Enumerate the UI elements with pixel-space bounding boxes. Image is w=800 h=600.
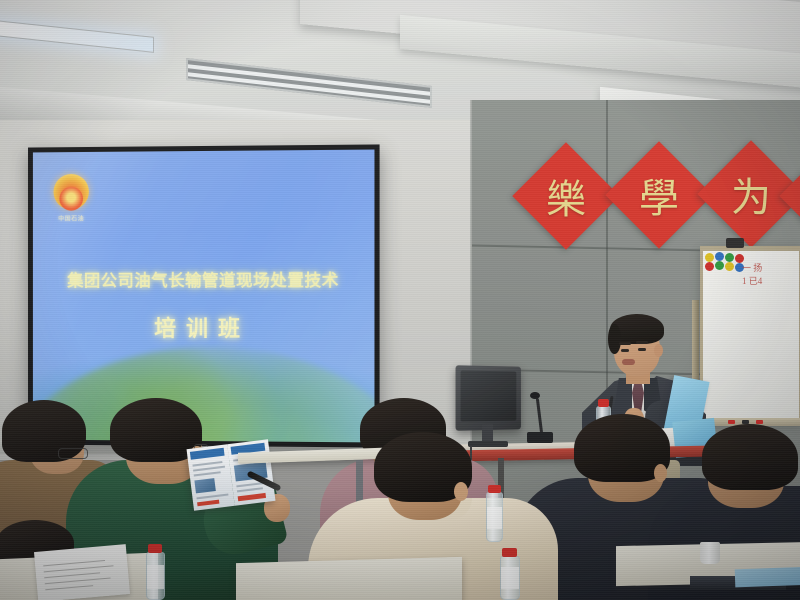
bottle-label-front-center xyxy=(501,567,519,589)
logo-sun-core xyxy=(59,187,83,211)
booklet-accent-right xyxy=(238,493,266,501)
water-bottle-cap-front-left xyxy=(148,544,162,553)
whiteboard-magnet-2 xyxy=(715,252,724,261)
booklet-accent-left xyxy=(197,500,219,507)
desk-documents-front-right xyxy=(735,567,800,588)
whiteboard-magnet-3 xyxy=(725,253,734,262)
bottle-label-front-left xyxy=(147,565,164,589)
presenter-brow-right xyxy=(636,341,648,344)
water-bottle-front-left xyxy=(146,552,165,600)
wall-banner-1: 樂 xyxy=(512,142,619,249)
whiteboard-handwriting: 一 扬 1 已4 xyxy=(742,262,800,302)
petrochina-logo: 中国石油 xyxy=(49,174,94,230)
presenter-ear xyxy=(654,344,663,357)
desk-front-center xyxy=(236,557,462,600)
slide-title: 集团公司油气长输管道现场处置技术 xyxy=(39,267,369,291)
paper-cup xyxy=(700,542,720,564)
whiteboard-writing-line-1: 一 扬 xyxy=(742,262,800,275)
wall-banner-2: 學 xyxy=(605,141,712,248)
whiteboard-magnet-5 xyxy=(705,262,714,271)
ceiling-light-panel-1 xyxy=(0,19,154,53)
whiteboard-magnet-7 xyxy=(725,262,734,271)
open-booklet xyxy=(187,439,276,511)
ceiling-air-vent-grille xyxy=(186,58,432,108)
booklet-photo-left xyxy=(194,478,215,493)
whiteboard-writing-line-2: 1 已4 xyxy=(742,275,800,288)
wall-banner-glyph-2: 學 xyxy=(621,157,697,233)
wall-banner-glyph-3: 为 xyxy=(713,156,789,232)
wall-banner-glyph-1: 樂 xyxy=(528,158,604,234)
booklet-header-band xyxy=(190,448,225,460)
wall-banner-glyph-4 xyxy=(790,170,800,222)
presenter-eye-left xyxy=(621,349,629,352)
photo-scene: 中国石油 集团公司油气长输管道现场处置技术 培训班 樂 學 为 一 扬 1 已4 xyxy=(0,0,800,600)
attendee-suit-center-ear xyxy=(654,464,667,482)
water-bottle-cap-desk xyxy=(598,399,609,407)
presenter-brow-left xyxy=(619,342,631,345)
attendee-cream-ear xyxy=(454,482,468,501)
microphone-head-1 xyxy=(530,392,540,399)
presenter-eye-right xyxy=(638,348,646,351)
water-bottle-cap-front-center xyxy=(502,548,517,557)
presenter-hair-side xyxy=(608,324,621,354)
slide-subtitle: 培训班 xyxy=(39,311,369,344)
logo-text: 中国石油 xyxy=(49,214,94,223)
water-bottle-mid xyxy=(486,492,503,542)
whiteboard-magnet-6 xyxy=(715,261,724,270)
whiteboard-magnet-1 xyxy=(705,253,714,262)
water-bottle-front-center xyxy=(500,556,520,600)
attendee-suit-right-hair xyxy=(702,424,798,490)
presenter-mouth xyxy=(622,359,635,365)
bottle-label-mid xyxy=(487,507,502,529)
whiteboard-clip xyxy=(726,238,744,248)
desk-papers-front-left xyxy=(34,544,130,600)
water-bottle-cap-mid xyxy=(488,485,501,493)
